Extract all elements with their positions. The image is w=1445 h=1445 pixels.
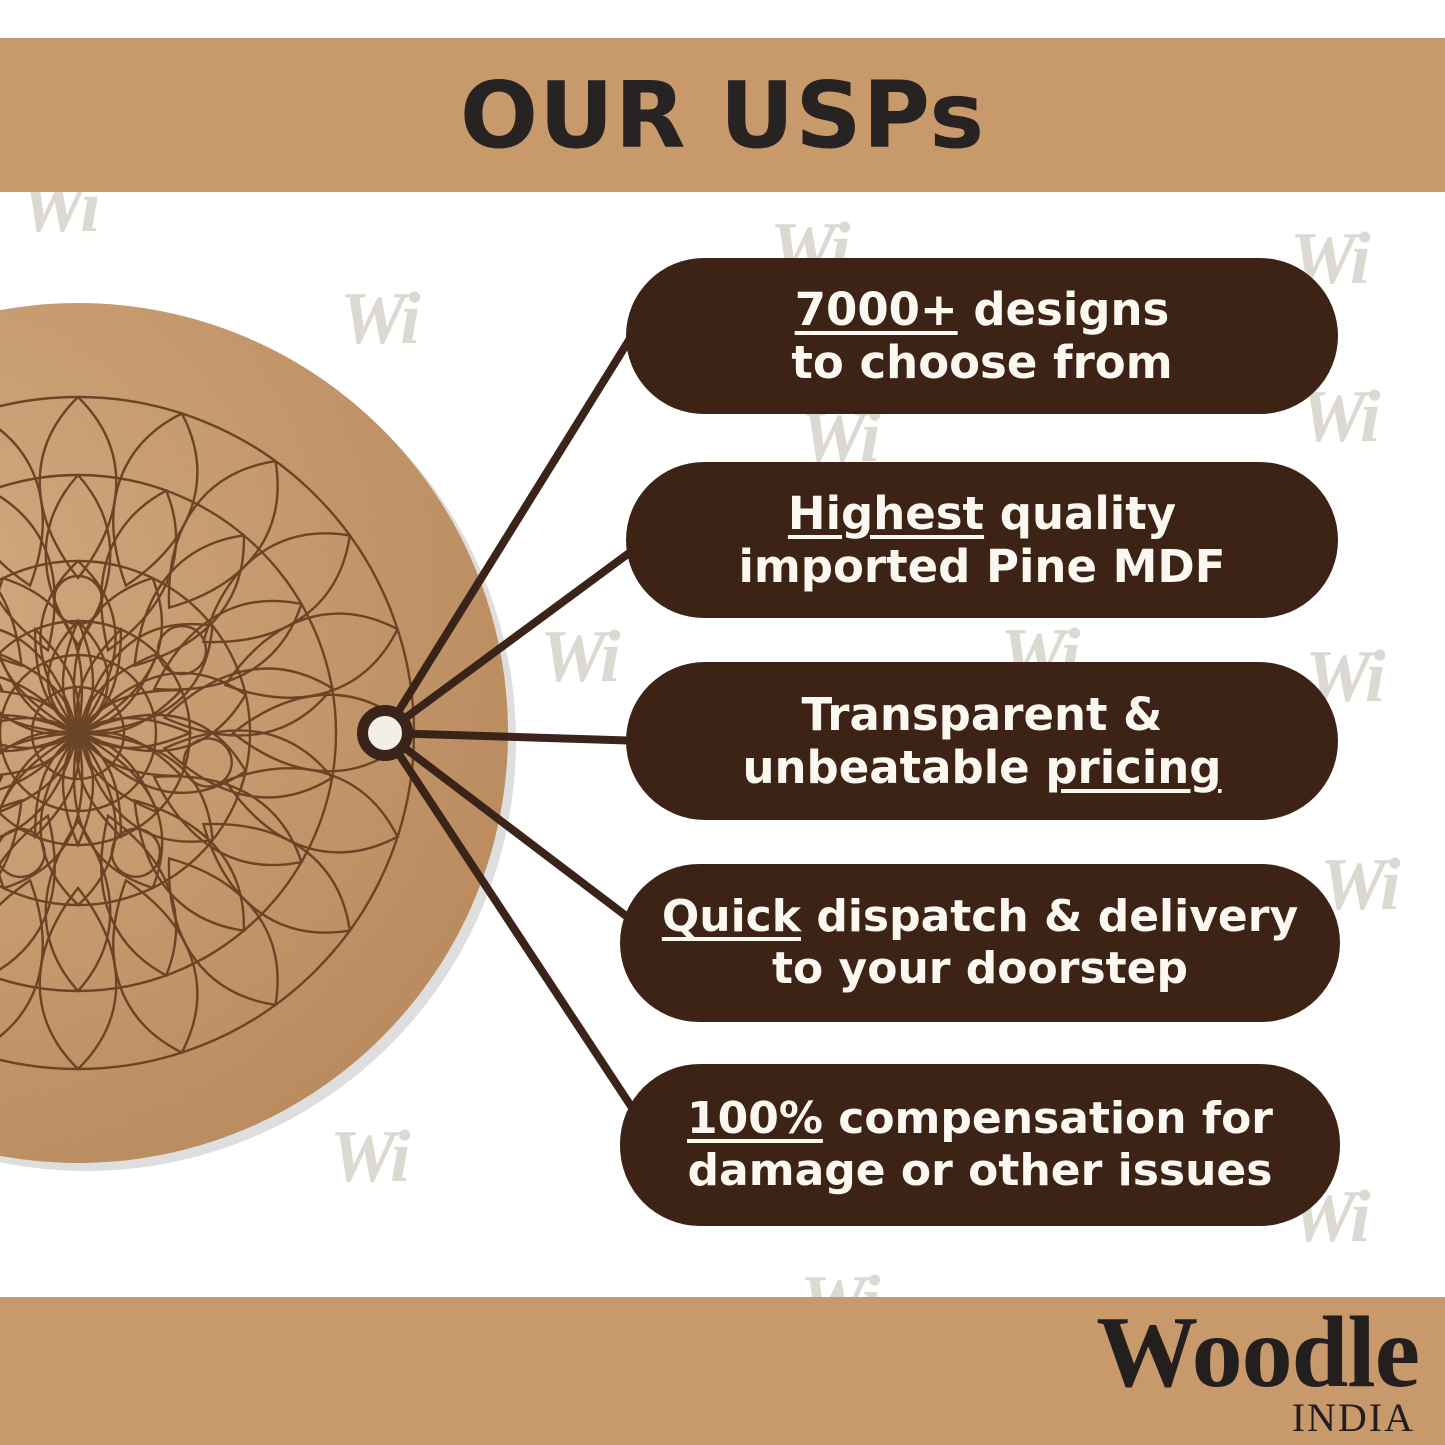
brand-logo-wordmark: Woodle xyxy=(1096,1302,1419,1404)
usp-highlight: Highest xyxy=(788,487,984,540)
usp-pill-dispatch-delivery[interactable]: Quick dispatch & delivery to your doorst… xyxy=(620,864,1340,1022)
connector-line-3 xyxy=(385,733,646,741)
page-title: OUR USPs xyxy=(0,38,1445,192)
usp-line-1: Quick dispatch & delivery xyxy=(662,891,1298,943)
usp-line-2: imported Pine MDF xyxy=(738,540,1225,593)
connector-line-1 xyxy=(385,300,654,733)
usp-line-1: 100% compensation for xyxy=(687,1093,1273,1145)
usp-highlight: pricing xyxy=(1045,741,1221,794)
usp-pill-pricing[interactable]: Transparent & unbeatable pricing xyxy=(626,662,1338,820)
usp-line-2: damage or other issues xyxy=(688,1145,1273,1197)
usp-line-1: Highest quality xyxy=(788,487,1176,540)
usp-highlight: Quick xyxy=(662,891,801,942)
usp-line-2: unbeatable pricing xyxy=(742,741,1221,794)
usp-text: unbeatable xyxy=(742,741,1045,794)
mandala-engraving xyxy=(0,397,414,1069)
usp-line-1: 7000+ designs xyxy=(795,283,1170,336)
usp-line-1: Transparent & xyxy=(802,688,1163,741)
usp-text: compensation for xyxy=(823,1093,1273,1144)
connector-line-2 xyxy=(385,545,640,733)
usp-pill-designs-count[interactable]: 7000+ designs to choose from xyxy=(626,258,1338,414)
brand-logo: Woodle INDIA xyxy=(1096,1302,1419,1438)
watermark-wi: Wi xyxy=(340,282,418,356)
watermark-wi: Wi xyxy=(330,1120,408,1194)
connector-line-4 xyxy=(385,733,642,928)
usp-line-2: to your doorstep xyxy=(772,943,1188,995)
usp-line-2: to choose from xyxy=(791,336,1172,389)
center-node xyxy=(357,705,413,761)
connector-line-5 xyxy=(385,733,652,1138)
usp-text: designs xyxy=(958,283,1170,336)
usp-text: dispatch & delivery xyxy=(801,891,1298,942)
usp-highlight: 7000+ xyxy=(795,283,958,336)
infographic-canvas: Wi Wi Wi Wi Wi Wi Wi Wi Wi Wi Wi Wi Wi W… xyxy=(0,0,1445,1445)
watermark-wi: Wi xyxy=(170,830,248,904)
usp-highlight: 100% xyxy=(687,1093,823,1144)
usp-pill-material-quality[interactable]: Highest quality imported Pine MDF xyxy=(626,462,1338,618)
watermark-wi: Wi xyxy=(540,620,618,694)
usp-pill-compensation[interactable]: 100% compensation for damage or other is… xyxy=(620,1064,1340,1226)
usp-text: quality xyxy=(984,487,1176,540)
